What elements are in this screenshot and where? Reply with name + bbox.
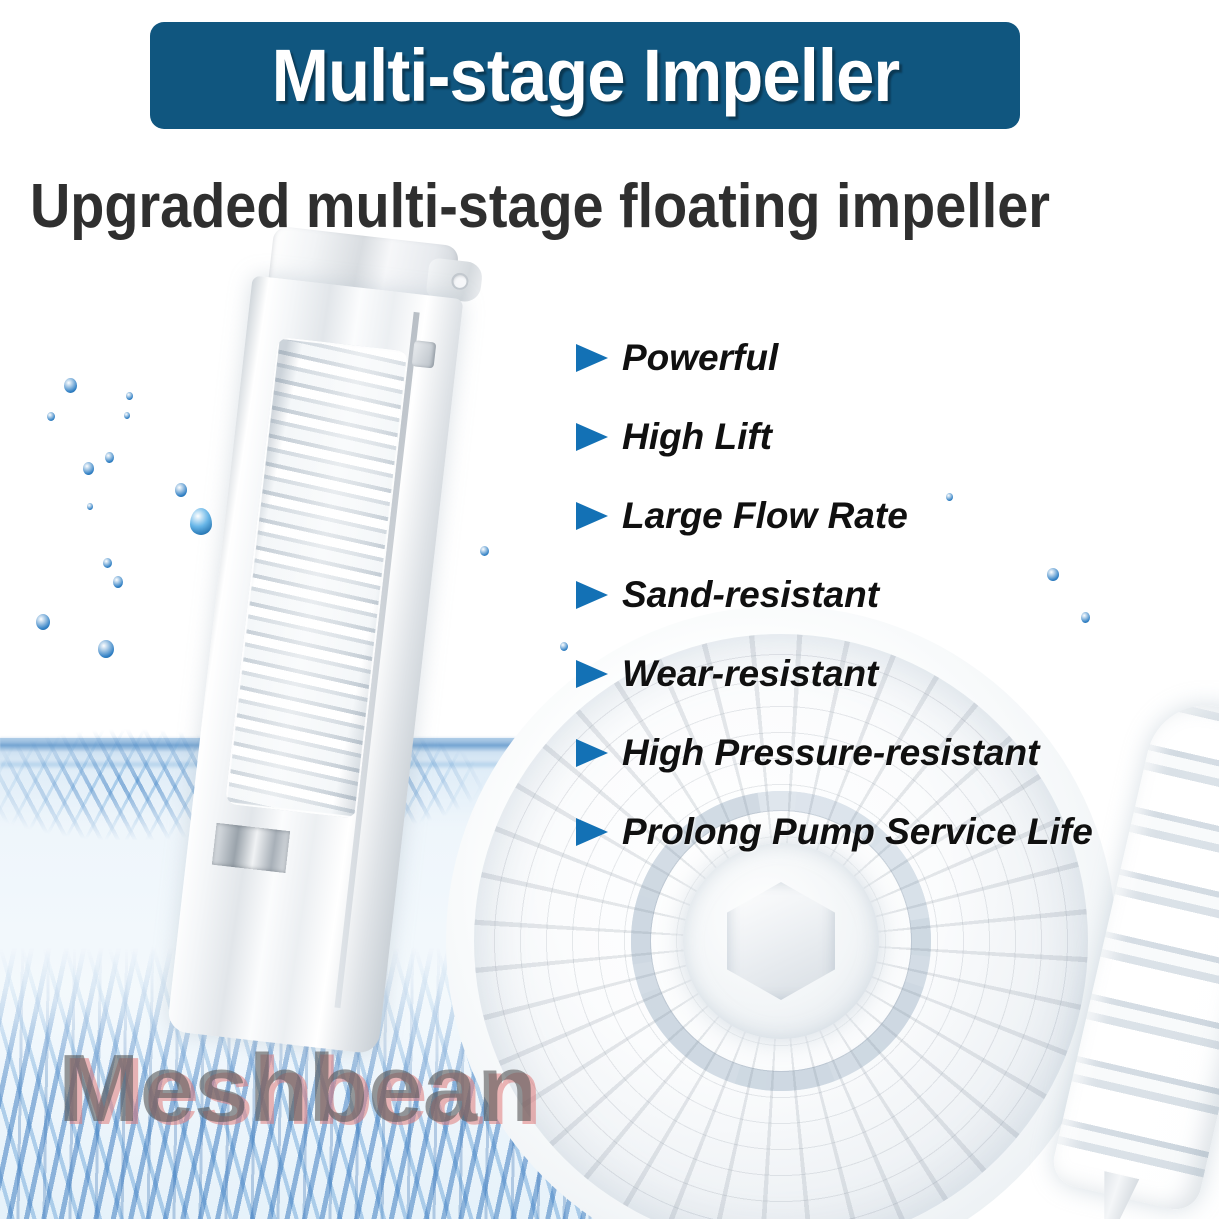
subtitle-text: Upgraded multi-stage floating impeller <box>30 176 1050 238</box>
feature-item: Powerful <box>576 318 1206 397</box>
water-droplet-icon <box>126 392 133 400</box>
water-droplet-icon <box>480 546 489 556</box>
water-splash-crest-art <box>0 690 500 840</box>
poster-canvas: Multi-stage Impeller Upgraded multi-stag… <box>0 0 1219 1219</box>
pump-coupling-nut <box>212 823 290 873</box>
subtitle-row: Upgraded multi-stage floating impeller <box>30 172 1190 242</box>
pump-cutaway-window <box>225 337 409 819</box>
feature-label: Sand-resistant <box>622 576 879 613</box>
impeller-hub <box>683 843 879 1039</box>
feature-label: Large Flow Rate <box>622 497 908 534</box>
impeller-hex-bore <box>727 882 835 1000</box>
header-banner: Multi-stage Impeller <box>150 22 1020 129</box>
cartridge-shaft-tip <box>1078 1168 1153 1219</box>
water-droplet-icon <box>560 642 568 651</box>
pump-seam <box>334 312 419 1008</box>
feature-item: High Pressure-resistant <box>576 713 1206 792</box>
water-droplet-icon <box>64 378 77 393</box>
water-droplet-icon <box>103 558 112 568</box>
water-droplet-icon <box>124 412 130 419</box>
water-droplet-icon <box>1164 900 1178 916</box>
water-droplet-icon <box>98 640 114 658</box>
feature-item: Wear-resistant <box>576 634 1206 713</box>
water-droplet-icon <box>190 508 212 535</box>
feature-label: Wear-resistant <box>622 655 878 692</box>
triangle-right-icon <box>576 738 608 768</box>
feature-label: High Pressure-resistant <box>622 734 1039 771</box>
water-droplet-icon <box>175 483 187 497</box>
pump-clip <box>412 340 437 368</box>
feature-label: Powerful <box>622 339 778 376</box>
pump-impeller-stages <box>227 339 407 816</box>
water-droplet-icon <box>113 576 123 588</box>
feature-item: Prolong Pump Service Life <box>576 792 1206 871</box>
triangle-right-icon <box>576 501 608 531</box>
brand-watermark: Meshbean <box>58 1036 690 1142</box>
triangle-right-icon <box>576 422 608 452</box>
feature-label: High Lift <box>622 418 772 455</box>
banner-title: Multi-stage Impeller <box>271 39 899 113</box>
water-droplet-icon <box>87 503 93 510</box>
pump-mounting-tab <box>425 257 483 303</box>
water-droplet-icon <box>36 614 50 630</box>
water-droplet-icon <box>105 452 114 463</box>
water-droplet-icon <box>47 412 55 421</box>
water-droplet-icon <box>83 462 94 475</box>
triangle-right-icon <box>576 580 608 610</box>
triangle-right-icon <box>576 343 608 373</box>
feature-label: Prolong Pump Service Life <box>622 813 1093 850</box>
feature-item: Large Flow Rate <box>576 476 1206 555</box>
water-surface-line-secondary <box>0 760 640 769</box>
feature-list: Powerful High Lift Large Flow Rate Sand-… <box>576 318 1206 871</box>
pump-body-shell <box>167 275 464 1054</box>
feature-item: Sand-resistant <box>576 555 1206 634</box>
triangle-right-icon <box>576 659 608 689</box>
triangle-right-icon <box>576 817 608 847</box>
submersible-pump-image <box>147 222 495 1125</box>
feature-item: High Lift <box>576 397 1206 476</box>
